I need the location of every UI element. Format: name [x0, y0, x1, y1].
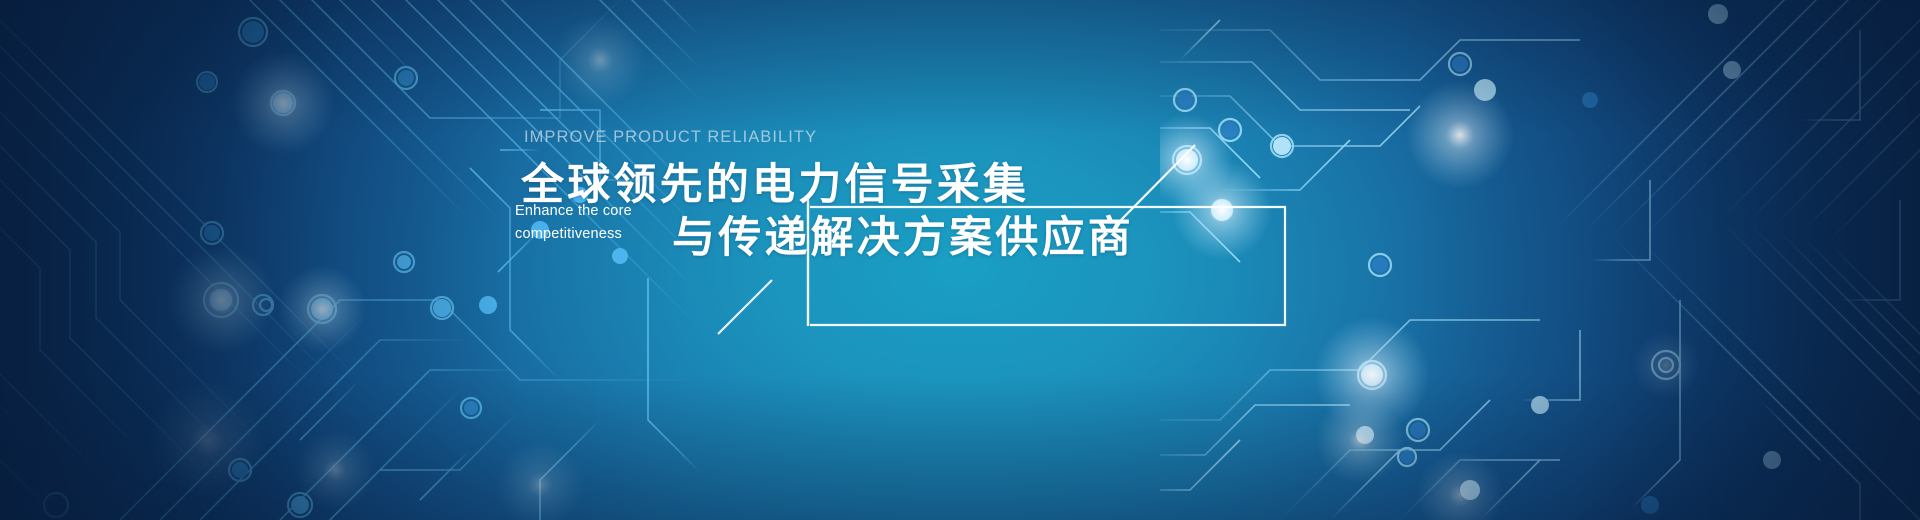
circuit-pattern-right [1160, 0, 1920, 520]
headline-line-1: 全球领先的电力信号采集 [521, 150, 1029, 212]
headline-copy-block: IMPROVE PRODUCT RELIABILITY 全球领先的电力信号采集 … [0, 0, 1920, 520]
headline-line-2: 与传递解决方案供应商 [672, 203, 1134, 265]
hero-banner: IMPROVE PRODUCT RELIABILITY 全球领先的电力信号采集 … [0, 0, 1920, 520]
diagonal-accent-bottom [718, 280, 772, 334]
circuit-pattern-left [0, 0, 700, 520]
subcopy-block: Enhance the core competitiveness [515, 200, 665, 246]
diagonal-accent-top [1117, 145, 1195, 224]
edge-vignette [0, 0, 1920, 520]
top-bottom-vignette [0, 0, 1920, 520]
subcopy-line-2: competitiveness [515, 223, 665, 246]
subcopy-line-1: Enhance the core [515, 200, 665, 223]
accent-frame [0, 0, 1920, 520]
eyebrow-text: IMPROVE PRODUCT RELIABILITY [524, 128, 817, 147]
